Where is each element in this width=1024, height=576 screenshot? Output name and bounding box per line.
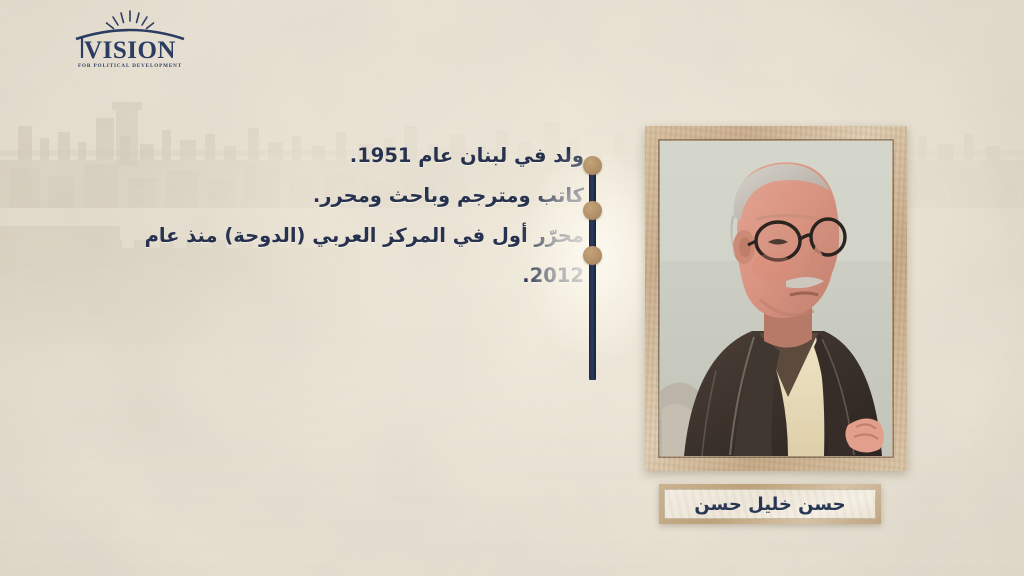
portrait-card (645, 126, 907, 471)
timeline-dot-3 (583, 246, 602, 265)
nameplate: حسن خليل حسن (659, 484, 881, 524)
bio-item-1: ولد في لبنان عام 1951. (114, 136, 584, 176)
bio-item-3: محرّر أول في المركز العربي (الدوحة) منذ … (114, 216, 584, 296)
bio-item-2: كاتب ومترجم وباحث ومحرر. (114, 176, 584, 216)
timeline-rail (589, 160, 596, 380)
logo-wordmark: VISION (84, 37, 176, 64)
person-name: حسن خليل حسن (694, 494, 845, 515)
sunburst-arc-icon: VISION (68, 8, 192, 70)
timeline-track (589, 156, 596, 380)
portrait-photo (660, 141, 892, 456)
slide-canvas: VISION FOR POLITICAL DEVELOPMENT ولد في … (0, 0, 1024, 576)
nameplate-face: حسن خليل حسن (664, 489, 876, 519)
brand-logo[interactable]: VISION FOR POLITICAL DEVELOPMENT (68, 8, 192, 78)
timeline-dot-2 (583, 201, 602, 220)
biography-list: ولد في لبنان عام 1951. كاتب ومترجم وباحث… (114, 136, 584, 296)
logo-tagline: FOR POLITICAL DEVELOPMENT (68, 63, 192, 69)
timeline-dot-1 (583, 156, 602, 175)
